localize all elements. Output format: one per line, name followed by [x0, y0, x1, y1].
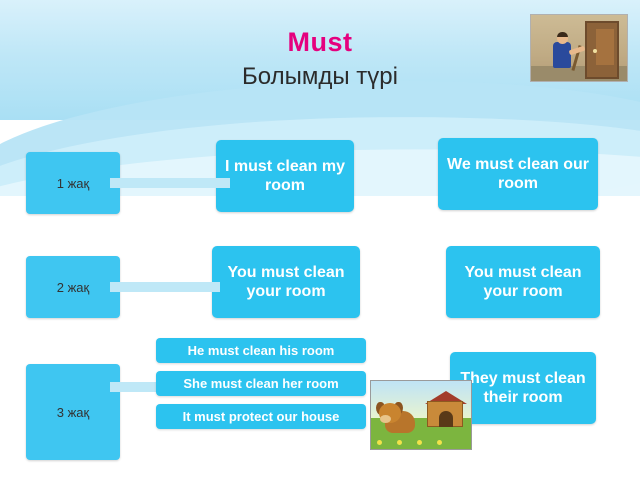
- person-label-3-text: 3 жақ: [57, 405, 89, 420]
- photo-door-knob-icon: [593, 49, 597, 53]
- dog-photo-house-door: [439, 411, 453, 427]
- person-label-1-text: 1 жақ: [57, 176, 89, 191]
- sentence-third-person-she: She must clean her room: [156, 371, 366, 396]
- photo-person-hair: [557, 32, 568, 37]
- person-label-2-text: 2 жақ: [57, 280, 89, 295]
- photo-door-panel: [596, 29, 614, 65]
- dog-photo-flower-3: [417, 440, 422, 445]
- sentence-third-person-he: He must clean his room: [156, 338, 366, 363]
- person-label-2: 2 жақ: [26, 256, 120, 318]
- person-label-3: 3 жақ: [26, 364, 120, 460]
- photo-person-body: [553, 42, 571, 68]
- sentence-singular-third-person-group: He must clean his room She must clean he…: [156, 338, 366, 437]
- dog-photo-flower-4: [437, 440, 442, 445]
- sentence-singular-second-person: You must clean your room: [212, 246, 360, 318]
- cleaning-photo: [530, 14, 628, 82]
- sentence-plural-second-person: You must clean your room: [446, 246, 600, 318]
- sentence-singular-first-person: I must clean my room: [216, 140, 354, 212]
- dog-photo-flower-2: [397, 440, 402, 445]
- connector-row-1: [110, 178, 230, 188]
- slide: Must Болымды түрі 1 жақ 2 жақ 3 жақ I mu…: [0, 0, 640, 480]
- person-label-1: 1 жақ: [26, 152, 120, 214]
- sentence-third-person-it: It must protect our house: [156, 404, 366, 429]
- connector-row-2: [110, 282, 220, 292]
- dog-icon-snout: [380, 415, 391, 423]
- dog-photo-flower-1: [377, 440, 382, 445]
- sentence-plural-first-person: We must clean our room: [438, 138, 598, 210]
- dog-photo: [370, 380, 472, 450]
